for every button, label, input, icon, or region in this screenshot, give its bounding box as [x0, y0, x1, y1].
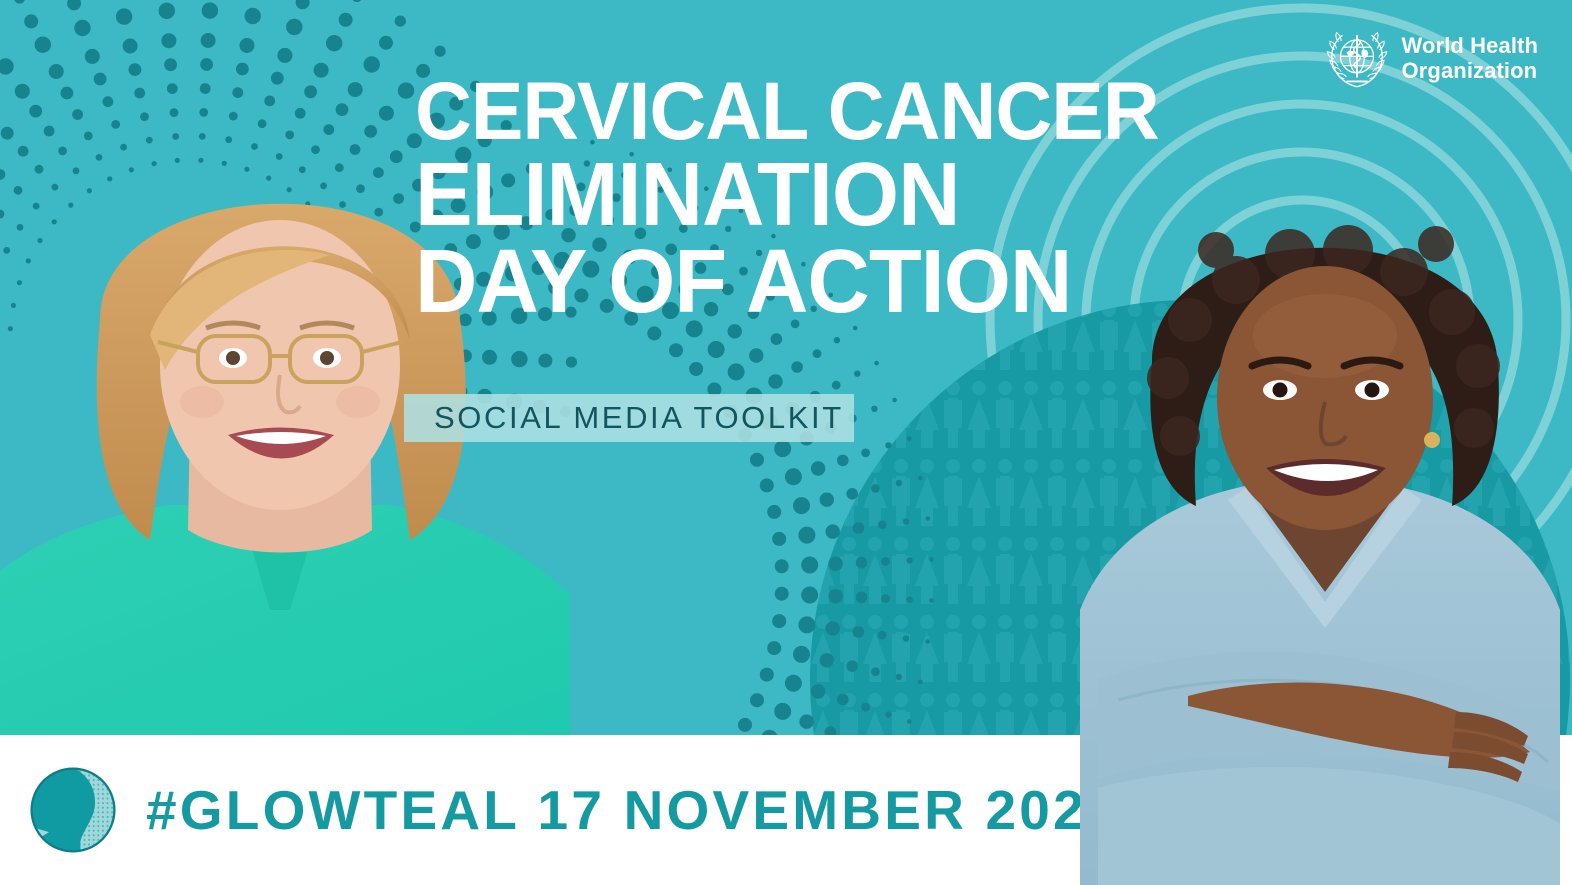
headline-line-2: ELIMINATION — [415, 152, 1202, 239]
who-logo-line2: Organization — [1402, 58, 1538, 83]
social-media-toolkit-band: SOCIAL MEDIA TOOLKIT — [404, 394, 854, 442]
who-logo-text: World Health Organization — [1402, 34, 1538, 83]
who-logo: World Health Organization — [1324, 26, 1538, 92]
page-title: CERVICAL CANCER ELIMINATION DAY OF ACTIO… — [415, 72, 1235, 326]
who-emblem-icon — [1324, 26, 1390, 92]
headline-line-3: DAY OF ACTION — [415, 239, 1202, 326]
cervical-cancer-day-of-action-banner: World Health Organization CERVICAL CANCE… — [0, 0, 1572, 885]
glowteal-globe-profile-icon — [27, 764, 119, 856]
social-media-toolkit-label: SOCIAL MEDIA TOOLKIT — [434, 400, 844, 436]
who-logo-line1: World Health — [1402, 33, 1538, 58]
footer-hashtag-date: #GLOWTEAL 17 NOVEMBER 2021 — [146, 778, 1121, 842]
headline-line-1: CERVICAL CANCER — [415, 72, 1202, 152]
